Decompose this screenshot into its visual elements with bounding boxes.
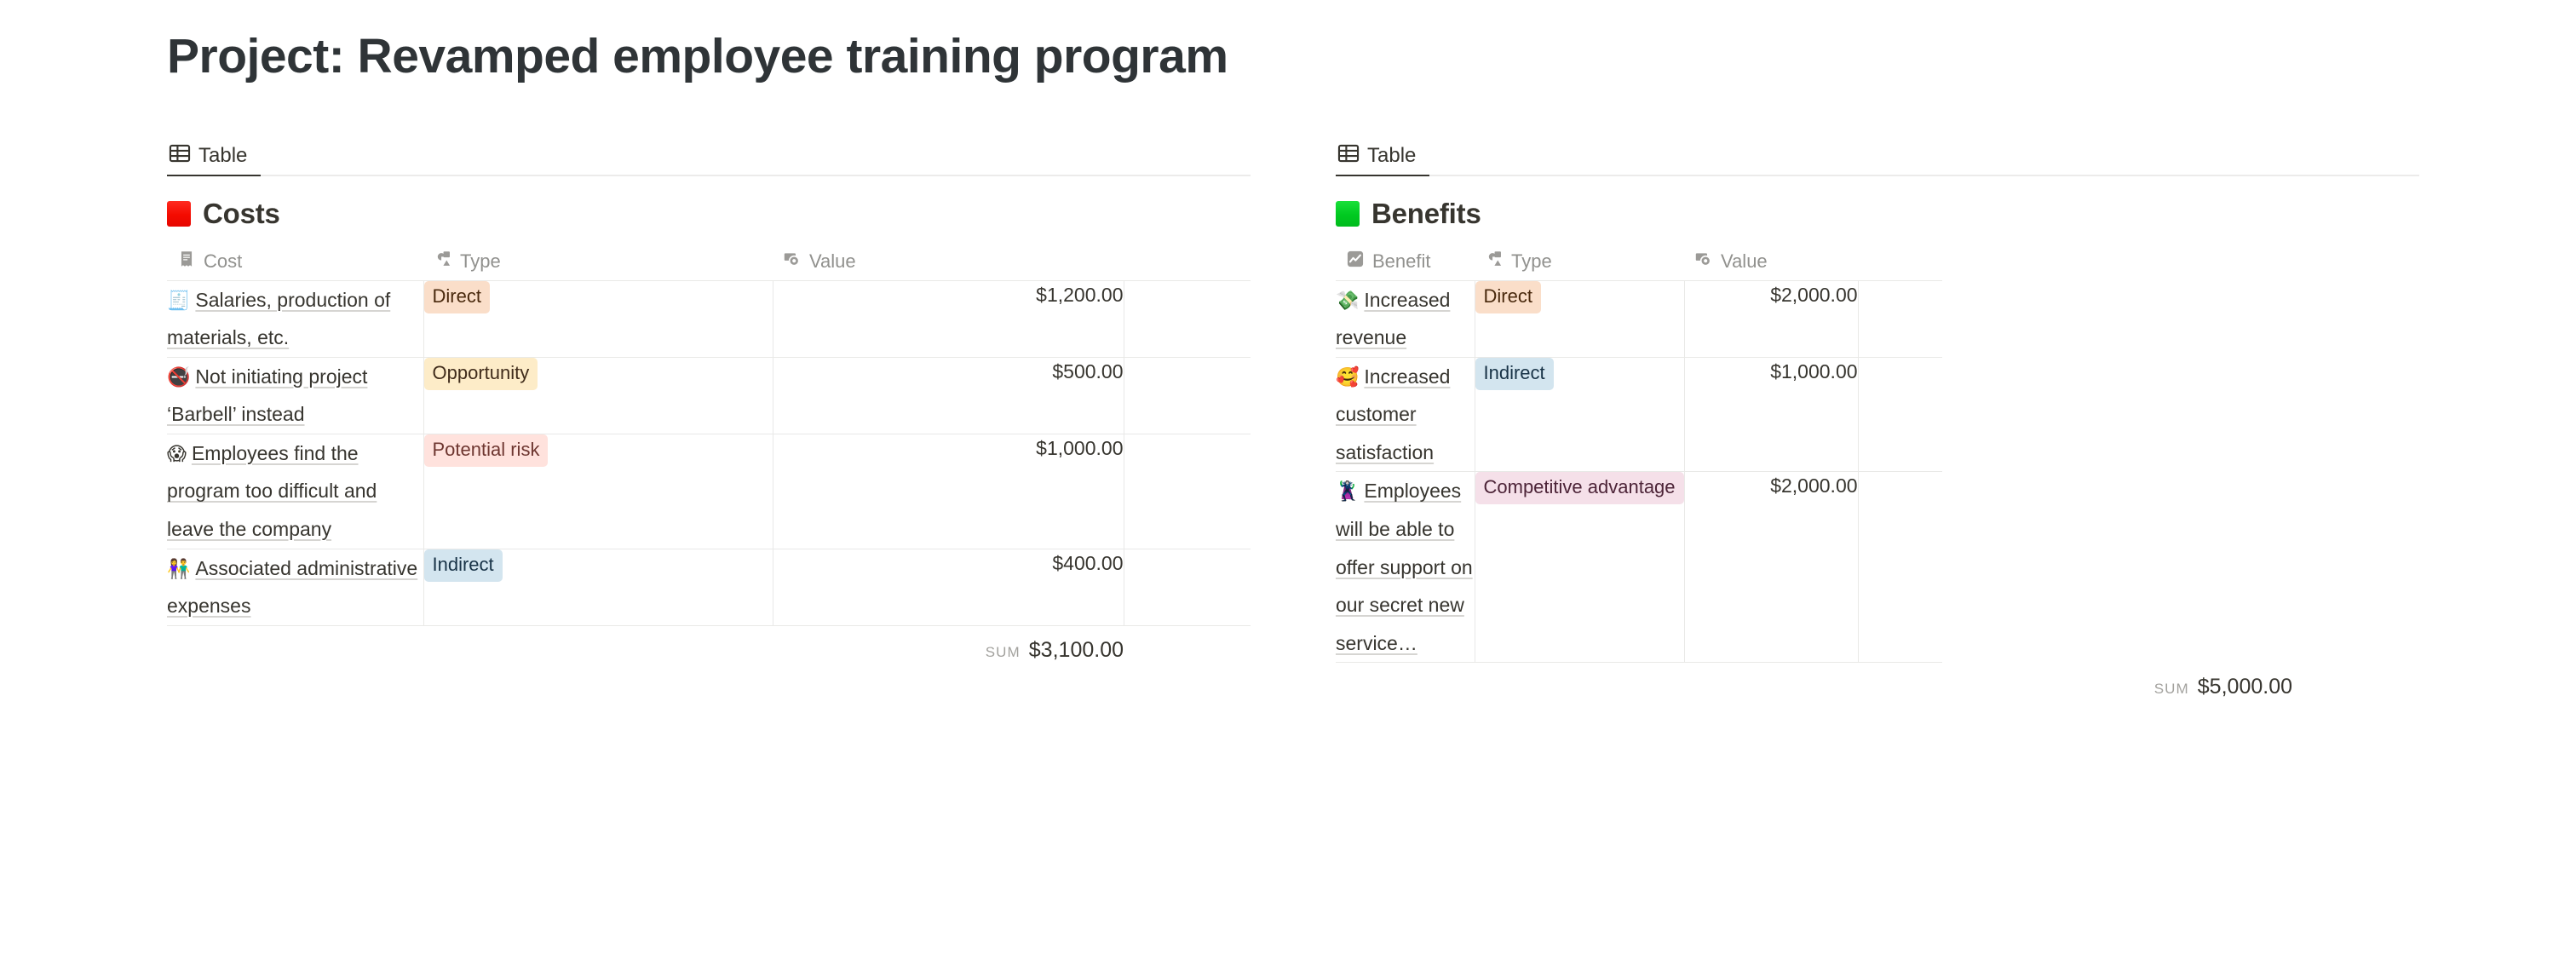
type-tag: Direct xyxy=(1475,281,1541,313)
cell-spacer xyxy=(1858,357,1942,472)
table-row[interactable]: 🧾Salaries, production of materials, etc.… xyxy=(167,280,1251,357)
column-header-value[interactable]: Value xyxy=(773,243,1251,280)
sum-label: Sum xyxy=(2154,681,2189,698)
cell-spacer xyxy=(1124,280,1251,357)
cell-title[interactable]: 🧾Salaries, production of materials, etc. xyxy=(167,280,423,357)
money-with-wings-emoji: 💸 xyxy=(1336,290,1359,312)
costs-sum-row[interactable]: Sum $3,100.00 xyxy=(167,626,1124,670)
cell-title[interactable]: 👫Associated administrative expenses xyxy=(167,549,423,625)
cell-value[interactable]: $2,000.00 xyxy=(1684,280,1858,357)
table-row[interactable]: 🚭Not initiating project ‘Barbell’ instea… xyxy=(167,357,1251,434)
cell-title[interactable]: 🥰Increased customer satisfaction xyxy=(1336,357,1475,472)
table-icon xyxy=(169,142,191,169)
currency-property-icon xyxy=(783,250,802,273)
costs-panel: Table Costs xyxy=(167,136,1251,670)
type-tag: Opportunity xyxy=(424,358,538,390)
chart-property-icon xyxy=(1346,250,1365,273)
row-title: Employees will be able to offer support … xyxy=(1336,480,1473,653)
type-tag: Indirect xyxy=(1475,358,1554,390)
cell-value[interactable]: $400.00 xyxy=(773,549,1124,625)
cell-spacer xyxy=(1858,472,1942,663)
row-title: Salaries, production of materials, etc. xyxy=(167,289,390,349)
column-header-label: Value xyxy=(809,250,856,273)
cell-type[interactable]: Potential risk xyxy=(423,434,773,549)
cell-type[interactable]: Opportunity xyxy=(423,357,773,434)
tab-table-benefits[interactable]: Table xyxy=(1336,136,1421,175)
cell-type[interactable]: Indirect xyxy=(1475,357,1684,472)
green-square-emoji xyxy=(1336,201,1360,227)
database-title: Benefits xyxy=(1371,197,1481,231)
table-row[interactable]: 👫Associated administrative expenses Indi… xyxy=(167,549,1251,625)
value-text: $1,000.00 xyxy=(1036,437,1123,459)
column-header-value[interactable]: Value xyxy=(1684,243,1942,280)
receipt-property-icon xyxy=(177,250,196,273)
value-text: $1,200.00 xyxy=(1036,284,1123,306)
people-emoji: 👫 xyxy=(167,559,190,580)
value-text: $500.00 xyxy=(1052,360,1123,382)
face-screaming-in-fear-emoji: 😱 xyxy=(167,444,187,465)
supervillain-emoji: 🦹 xyxy=(1336,481,1359,503)
column-header-label: Benefit xyxy=(1372,250,1431,273)
value-text: $2,000.00 xyxy=(1770,474,1857,497)
benefits-tabbar: Table xyxy=(1336,136,2419,176)
sum-value: $5,000.00 xyxy=(2198,675,2292,699)
row-title: Associated administrative expenses xyxy=(167,557,417,618)
value-text: $2,000.00 xyxy=(1770,284,1857,306)
cell-type[interactable]: Indirect xyxy=(423,549,773,625)
cell-type[interactable]: Direct xyxy=(1475,280,1684,357)
page-root: Project: Revamped employee training prog… xyxy=(0,0,2576,966)
receipt-emoji: 🧾 xyxy=(167,290,190,312)
cell-value[interactable]: $2,000.00 xyxy=(1684,472,1858,663)
cell-type[interactable]: Competitive advantage xyxy=(1475,472,1684,663)
costs-database-heading: Costs xyxy=(167,195,1251,233)
table-row[interactable]: 🦹Employees will be able to offer support… xyxy=(1336,472,1942,663)
type-tag: Potential risk xyxy=(424,434,549,467)
column-header-type[interactable]: Type xyxy=(423,243,773,280)
cell-title[interactable]: 😱Employees find the program too difficul… xyxy=(167,434,423,549)
tab-active-underline xyxy=(1336,175,1429,176)
database-title: Costs xyxy=(203,197,280,231)
column-header-benefit[interactable]: Benefit xyxy=(1336,243,1475,280)
cell-title[interactable]: 💸Increased revenue xyxy=(1336,280,1475,357)
cell-value[interactable]: $1,200.00 xyxy=(773,280,1124,357)
value-text: $400.00 xyxy=(1052,552,1123,574)
row-title: Not initiating project ‘Barbell’ instead xyxy=(167,365,367,426)
column-header-cost[interactable]: Cost xyxy=(167,243,423,280)
benefits-sum-row[interactable]: Sum $5,000.00 xyxy=(1336,663,2292,707)
select-property-icon xyxy=(1485,250,1504,273)
costs-table: Cost Type xyxy=(167,243,1251,626)
tab-active-underline xyxy=(167,175,261,176)
column-header-label: Cost xyxy=(204,250,242,273)
column-header-label: Value xyxy=(1721,250,1768,273)
cell-value[interactable]: $500.00 xyxy=(773,357,1124,434)
cell-spacer xyxy=(1858,280,1942,357)
table-header-row: Cost Type xyxy=(167,243,1251,280)
sum-value: $3,100.00 xyxy=(1029,638,1124,663)
table-row[interactable]: 💸Increased revenue Direct $2,000.00 xyxy=(1336,280,1942,357)
costs-tabbar: Table xyxy=(167,136,1251,176)
select-property-icon xyxy=(434,250,452,273)
sum-label: Sum xyxy=(986,644,1021,661)
smiling-face-with-hearts-emoji: 🥰 xyxy=(1336,367,1359,388)
costs-table-body: 🧾Salaries, production of materials, etc.… xyxy=(167,280,1251,625)
cell-value[interactable]: $1,000.00 xyxy=(1684,357,1858,472)
red-square-emoji xyxy=(167,201,191,227)
type-tag: Indirect xyxy=(424,549,503,582)
cell-spacer xyxy=(1124,549,1251,625)
tab-table-costs[interactable]: Table xyxy=(167,136,252,175)
cell-title[interactable]: 🚭Not initiating project ‘Barbell’ instea… xyxy=(167,357,423,434)
no-littering-emoji: 🚭 xyxy=(167,367,190,388)
cell-type[interactable]: Direct xyxy=(423,280,773,357)
benefits-database-heading: Benefits xyxy=(1336,195,2419,233)
benefits-table: Benefit Type xyxy=(1336,243,1942,663)
cell-spacer xyxy=(1124,434,1251,549)
cell-spacer xyxy=(1124,357,1251,434)
table-icon xyxy=(1337,142,1360,169)
currency-property-icon xyxy=(1694,250,1713,273)
row-title: Employees find the program too difficult… xyxy=(167,442,377,540)
value-text: $1,000.00 xyxy=(1770,360,1857,382)
page-title: Project: Revamped employee training prog… xyxy=(167,26,1228,87)
table-header-row: Benefit Type xyxy=(1336,243,1942,280)
type-tag: Competitive advantage xyxy=(1475,472,1684,504)
column-header-type[interactable]: Type xyxy=(1475,243,1684,280)
column-header-label: Type xyxy=(1511,250,1552,273)
tab-label: Table xyxy=(1367,143,1416,169)
tab-label: Table xyxy=(198,143,247,169)
column-header-label: Type xyxy=(460,250,501,273)
benefits-table-body: 💸Increased revenue Direct $2,000.00 🥰In xyxy=(1336,280,1942,663)
table-row[interactable]: 🥰Increased customer satisfaction Indirec… xyxy=(1336,357,1942,472)
type-tag: Direct xyxy=(424,281,490,313)
cell-value[interactable]: $1,000.00 xyxy=(773,434,1124,549)
table-row[interactable]: 😱Employees find the program too difficul… xyxy=(167,434,1251,549)
benefits-panel: Table Benefits xyxy=(1336,136,2419,707)
cell-title[interactable]: 🦹Employees will be able to offer support… xyxy=(1336,472,1475,663)
